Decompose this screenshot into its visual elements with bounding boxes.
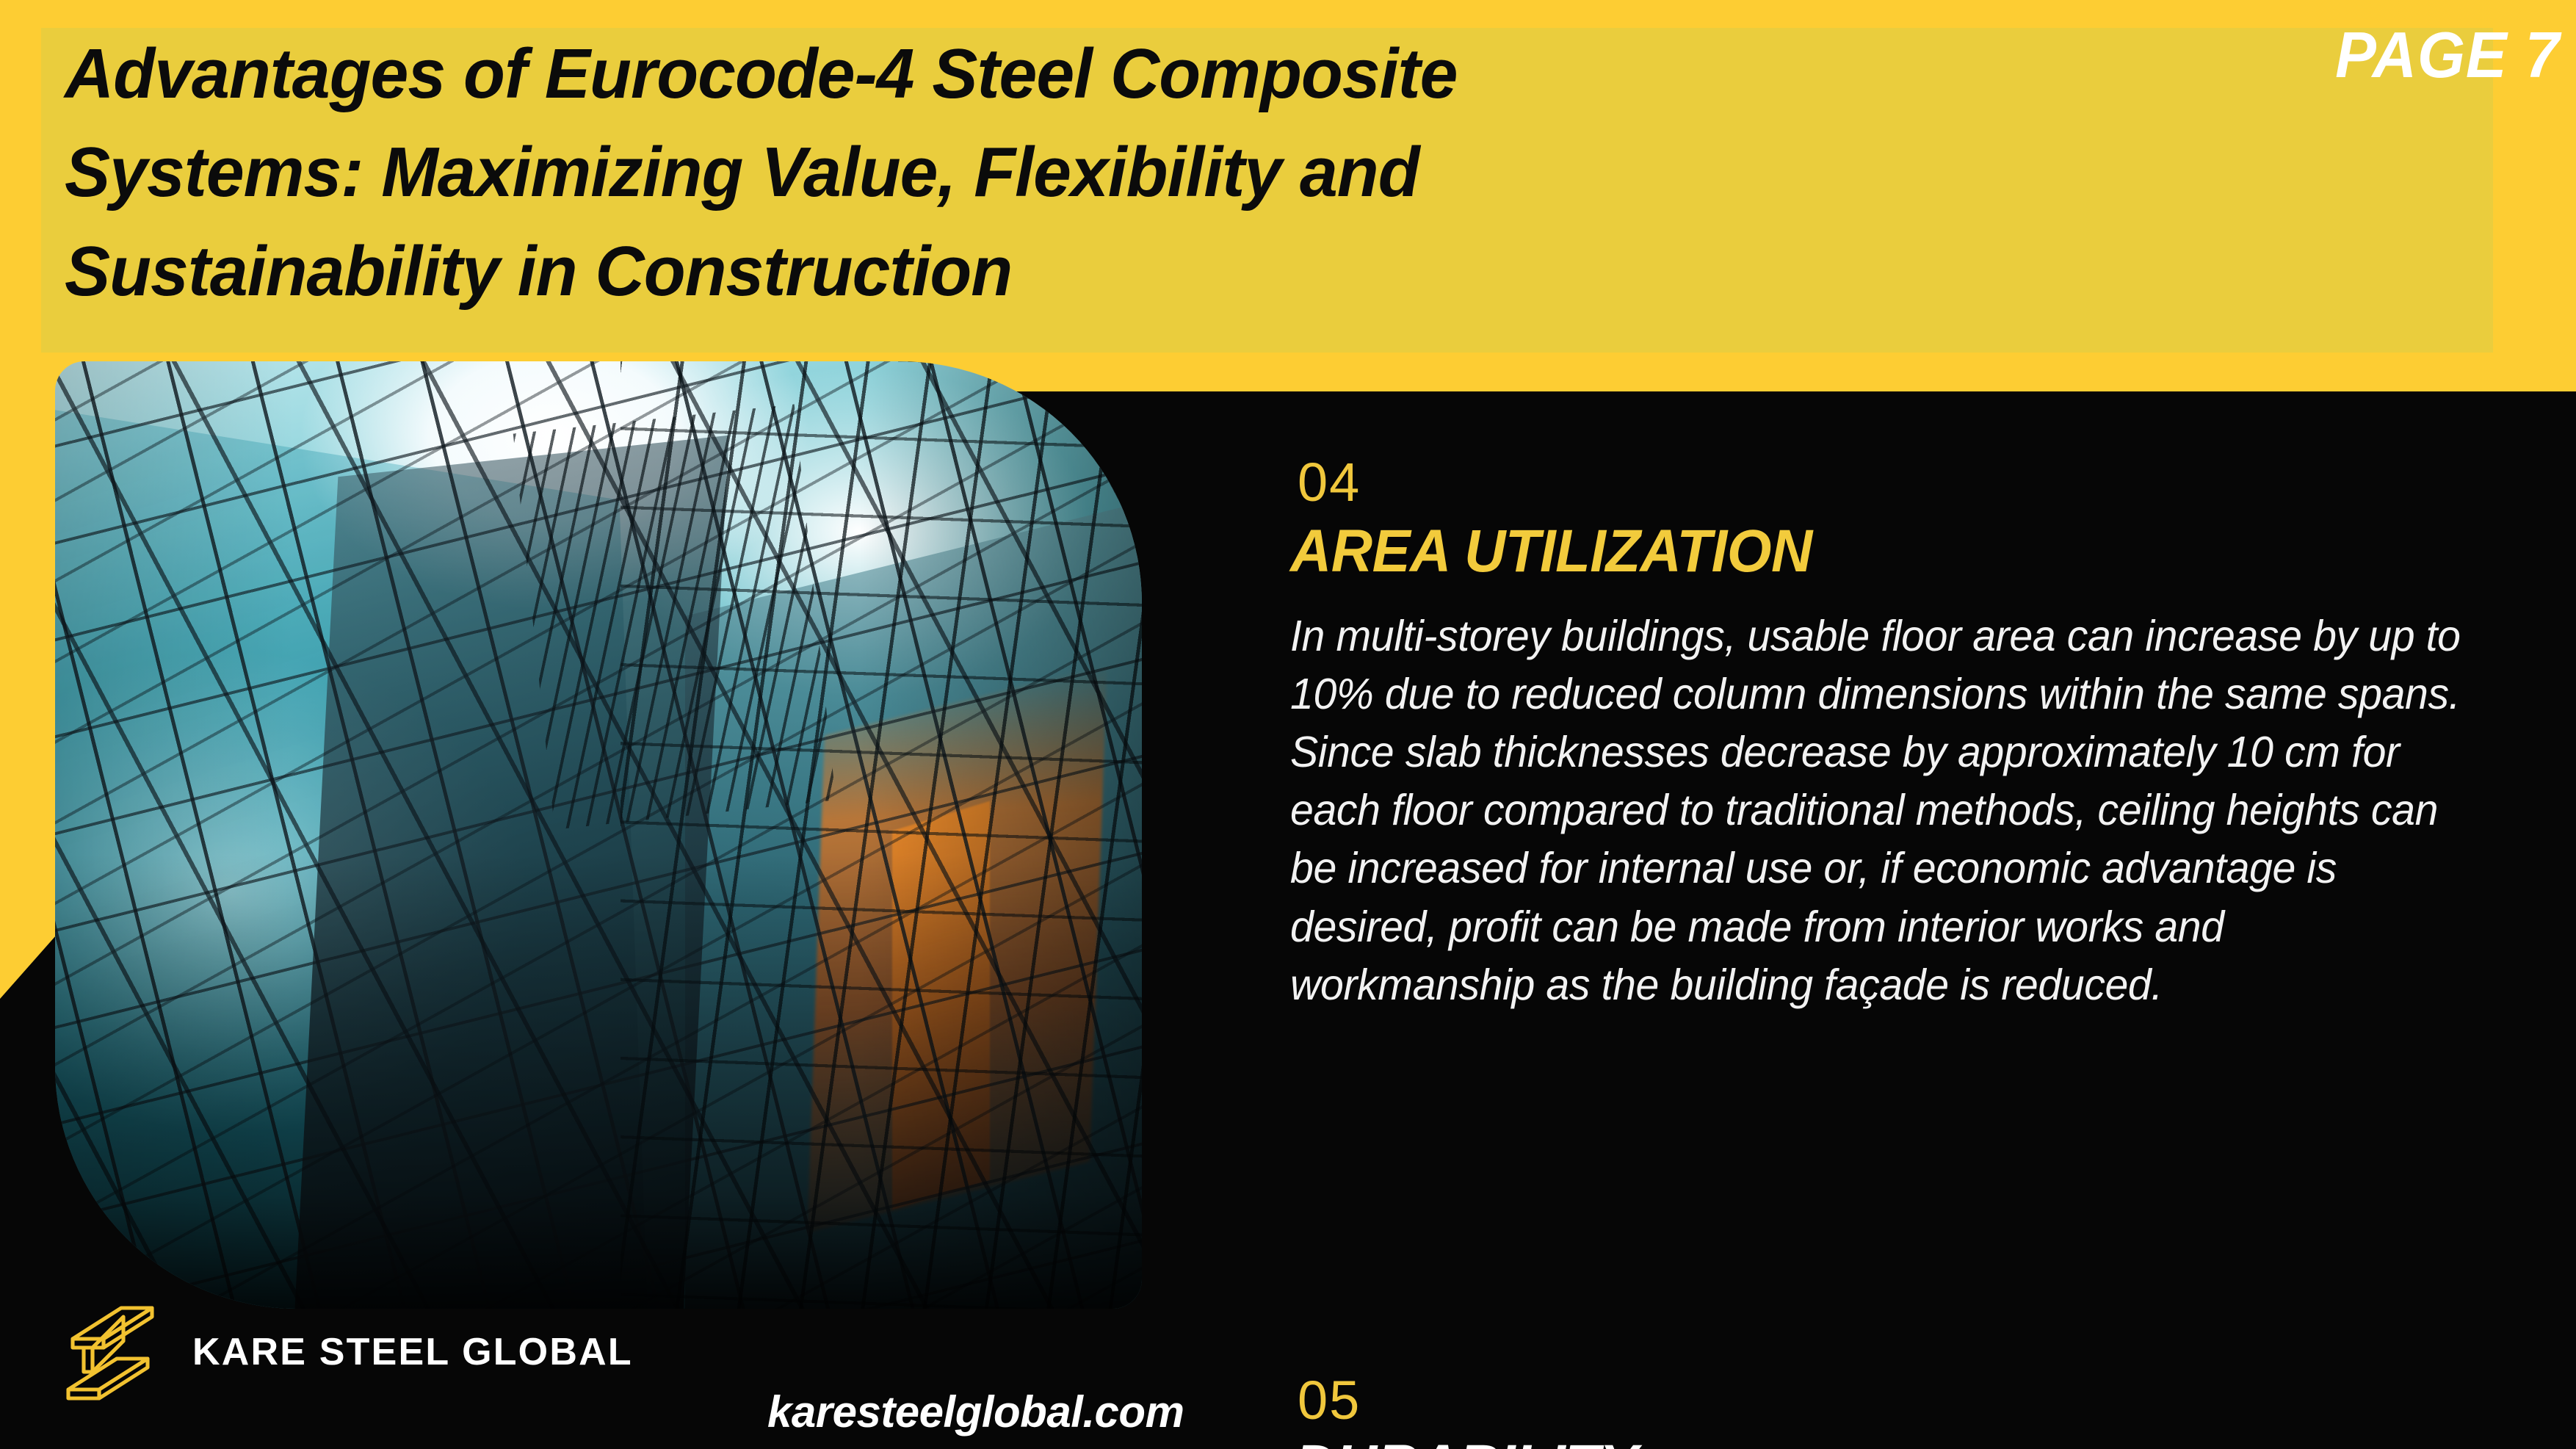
page-number-label: PAGE 7 [2335, 18, 2560, 93]
section-number-05: 05 [1298, 1373, 2528, 1428]
brand-logo: KARE STEEL GLOBAL [57, 1297, 633, 1407]
website-url: karesteelglobal.com [767, 1387, 1184, 1437]
section-block-04: 04 AREA UTILIZATION In multi-storey buil… [1290, 455, 2524, 1014]
page-title: Advantages of Eurocode-4 Steel Composite… [65, 25, 2080, 321]
hero-photo [55, 361, 1142, 1309]
section-title-04: AREA UTILIZATION [1290, 520, 2462, 582]
i-beam-icon [57, 1297, 167, 1407]
brand-name: KARE STEEL GLOBAL [192, 1330, 633, 1374]
slide-page: Advantages of Eurocode-4 Steel Composite… [0, 0, 2576, 1449]
photo-vignette [55, 361, 1142, 1309]
section-block-05: 05 DURABILITY Steel can last decades lon… [1295, 1373, 2528, 1449]
photo-composition [55, 361, 1142, 1309]
section-body-04: In multi-storey buildings, usable floor … [1290, 607, 2472, 1013]
section-title-05: DURABILITY [1295, 1435, 2467, 1449]
section-number-04: 04 [1298, 455, 2524, 510]
